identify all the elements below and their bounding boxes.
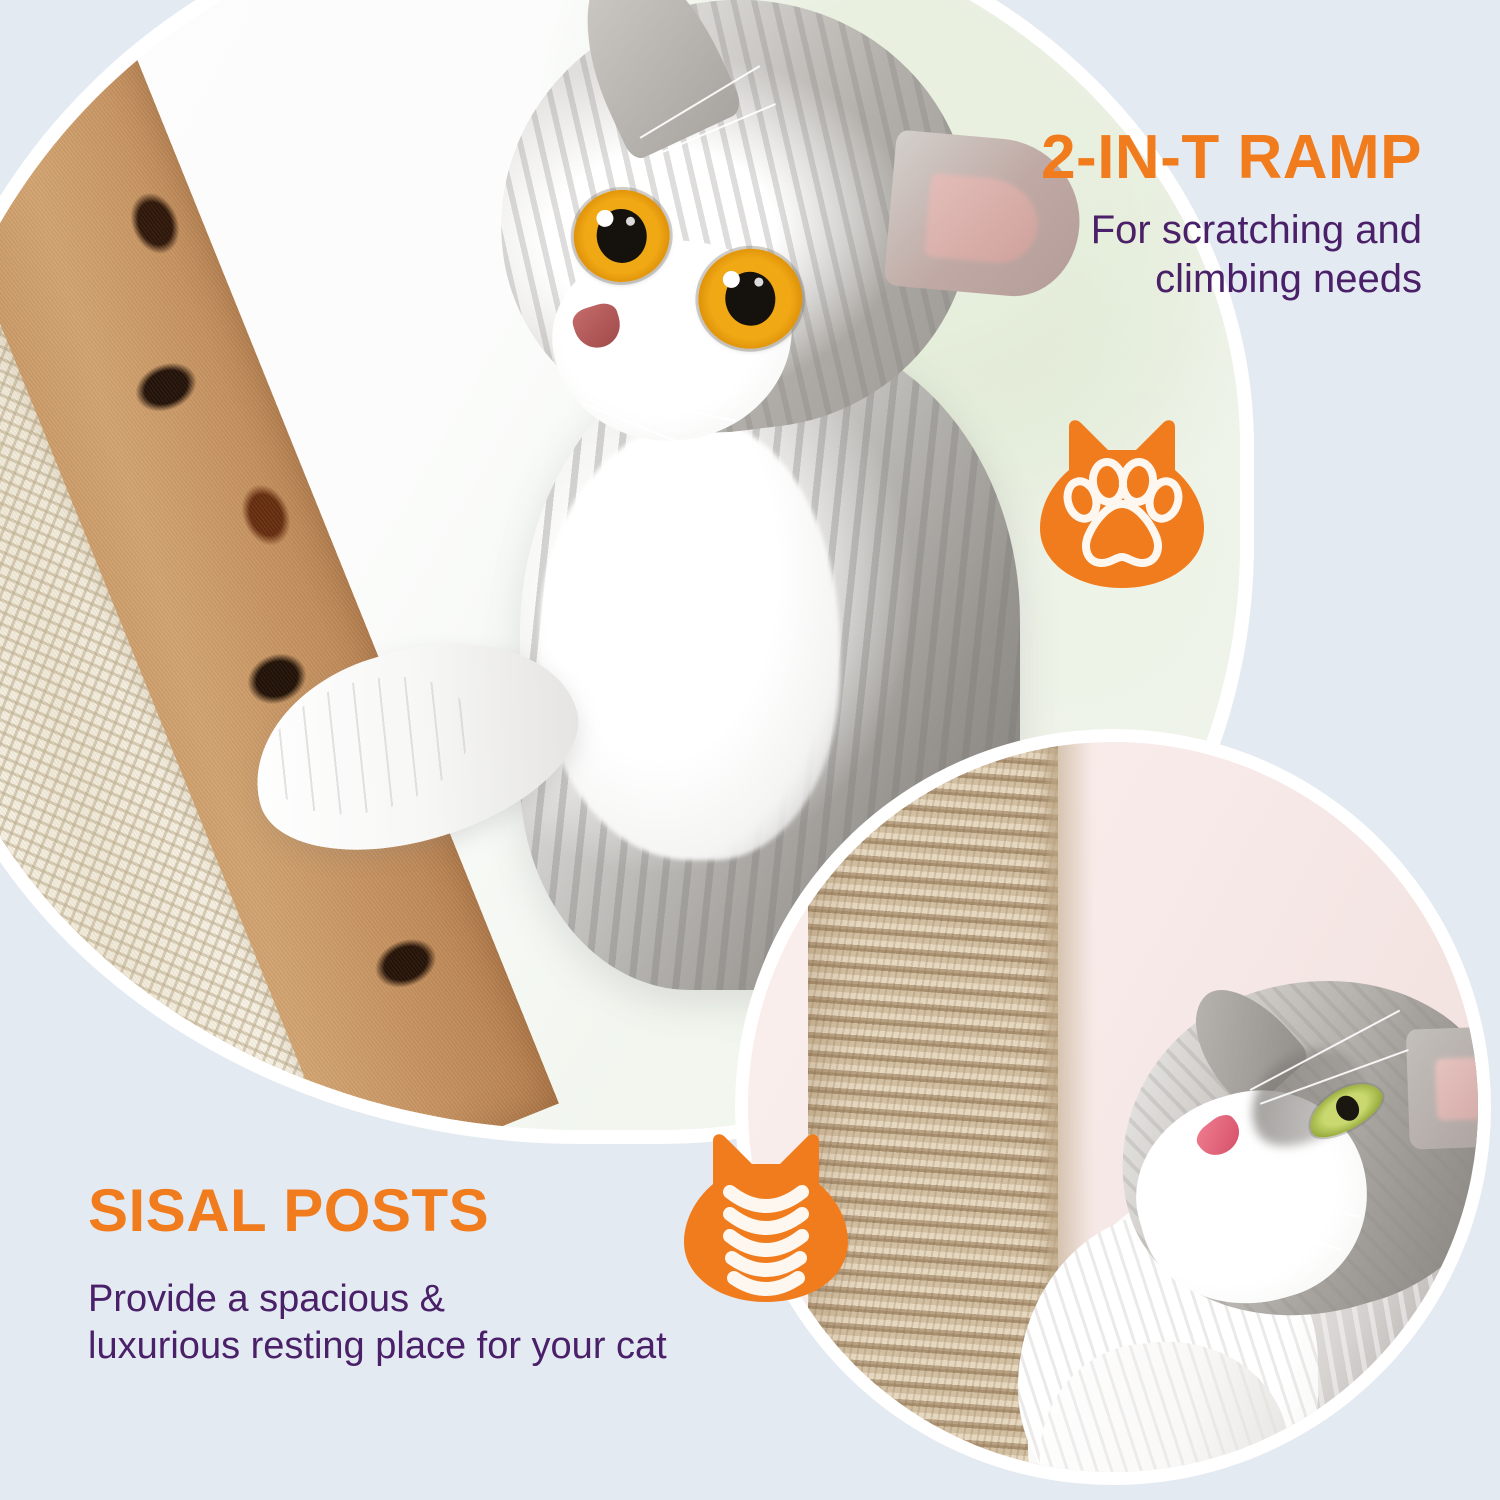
sisal-headline: SISAL POSTS [88,1180,848,1242]
sisal-photo-panel [748,742,1478,1472]
ramp-subline: For scratching and climbing needs [782,206,1422,304]
sisal-subline: Provide a spacious & luxurious resting p… [88,1276,848,1369]
sisal-subline-line1: Provide a spacious & [88,1278,445,1320]
ramp-subline-line2: climbing needs [1155,257,1422,301]
fluffy-cat [998,922,1478,1472]
ramp-headline: 2-IN-T RAMP [782,126,1422,190]
cat-ear-right [1406,1025,1478,1150]
ramp-subline-line1: For scratching and [1091,208,1422,252]
cat-head-paw-print-icon [1038,418,1206,590]
product-feature-graphic: 2-IN-T RAMP For scratching and climbing … [0,0,1500,1500]
sisal-feature-text: SISAL POSTS Provide a spacious & luxurio… [88,1180,848,1369]
ramp-feature-text: 2-IN-T RAMP For scratching and climbing … [782,126,1422,304]
sisal-subline-line2: luxurious resting place for your cat [88,1325,667,1367]
cat-ear-left [553,0,746,163]
